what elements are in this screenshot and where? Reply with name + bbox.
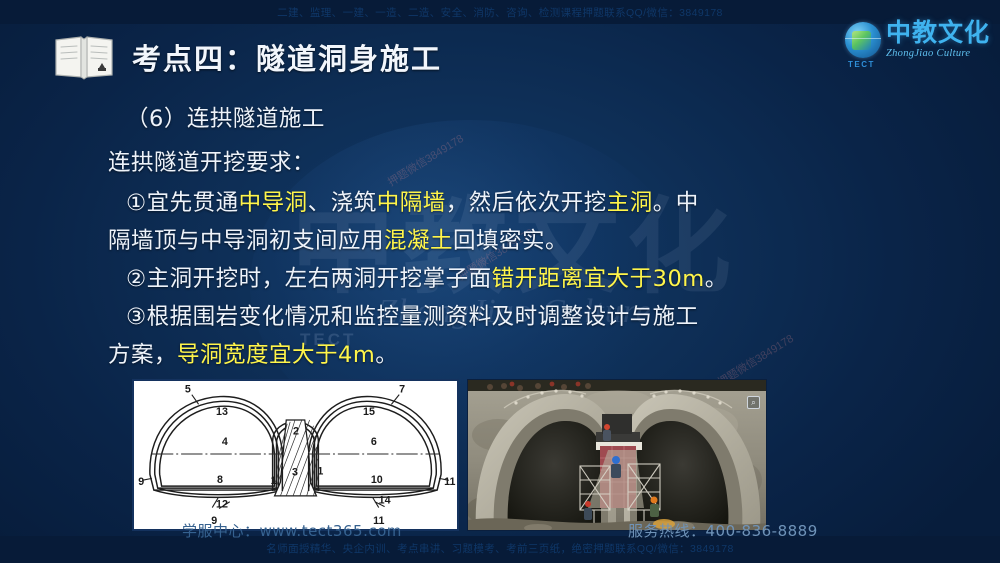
media-row: 5 13 4 8 12 9 9 2 3 1 1 7 15 6 10 14 11 bbox=[132, 379, 767, 531]
diagram-label-2: 2 bbox=[293, 426, 299, 438]
item1-cont-text-1: 隔墙顶与中导洞初支间应用 bbox=[108, 228, 384, 254]
item1-text-4: 。中 bbox=[653, 190, 699, 216]
item1-highlight-1: 中导洞 bbox=[239, 190, 308, 216]
diagram-label-5: 5 bbox=[185, 384, 191, 396]
item3-cont-text-1: 方案， bbox=[108, 342, 177, 368]
body-intro: 连拱隧道开挖要求： bbox=[108, 144, 898, 182]
body-intro-text: 连拱隧道开挖要求： bbox=[108, 150, 315, 176]
diagram-label-13: 13 bbox=[216, 406, 228, 418]
item1-cont-highlight-1: 混凝土 bbox=[384, 228, 453, 254]
item2-text-2: 。 bbox=[705, 266, 728, 292]
item1-text-2: 、浇筑 bbox=[308, 190, 377, 216]
footer-promo-text: 名师面授精华、央企内训、考点串讲、习题模考、考前三页纸，绝密押题联系QQ/微信：… bbox=[0, 541, 1000, 556]
diagram-label-9: 9 bbox=[138, 476, 144, 488]
item3-cont-text-2: 。 bbox=[375, 342, 398, 368]
item1-highlight-2: 中隔墙 bbox=[377, 190, 446, 216]
diagram-label-1a: 1 bbox=[271, 475, 277, 487]
body-item3-line2: 方案，导洞宽度宜大于4m。 bbox=[108, 336, 898, 374]
body-item2-line1: ②主洞开挖时，左右两洞开挖掌子面错开距离宜大于30m。 bbox=[108, 260, 898, 298]
diagram-label-14: 14 bbox=[379, 495, 391, 507]
diagram-label-15: 15 bbox=[363, 406, 375, 418]
page-title: 考点四：隧道洞身施工 bbox=[52, 34, 442, 80]
item2-text-1: ②主洞开挖时，左右两洞开挖掌子面 bbox=[126, 266, 492, 292]
twin-arch-tunnel-portal-construction-photo: ⌕ bbox=[467, 379, 767, 531]
body-item1-line2: 隔墙顶与中导洞初支间应用混凝土回填密实。 bbox=[108, 222, 898, 260]
brand-logo: TECT 中教文化 ZhongJiao Culture bbox=[845, 20, 990, 60]
item1-cont-text-2: 回填密实。 bbox=[453, 228, 568, 254]
magnifier-icon: ⌕ bbox=[747, 396, 760, 409]
body-item1-line1: ①宜先贯通中导洞、浇筑中隔墙，然后依次开挖主洞。中 bbox=[108, 184, 898, 222]
diagram-label-3: 3 bbox=[292, 466, 298, 478]
diagram-label-8: 8 bbox=[217, 474, 223, 486]
logo-en-text: ZhongJiao Culture bbox=[886, 49, 990, 60]
logo-mark-text: TECT bbox=[848, 60, 875, 69]
item1-highlight-3: 主洞 bbox=[607, 190, 653, 216]
body-item3-line1: ③根据围岩变化情况和监控量测资料及时调整设计与施工 bbox=[108, 298, 898, 336]
item1-text-3: ，然后依次开挖 bbox=[446, 190, 607, 216]
content-body: （6）连拱隧道施工 连拱隧道开挖要求： ①宜先贯通中导洞、浇筑中隔墙，然后依次开… bbox=[108, 100, 898, 374]
twin-arch-tunnel-cross-section: 5 13 4 8 12 9 9 2 3 1 1 7 15 6 10 14 11 bbox=[132, 379, 459, 531]
diagram-label-1b: 1 bbox=[317, 465, 323, 477]
item3-cont-highlight-1: 导洞宽度宜大于4m bbox=[177, 342, 375, 368]
footer-website: 学服中心：www.tect365.com bbox=[182, 520, 402, 541]
globe-icon bbox=[845, 22, 881, 58]
top-banner-text: 二建、监理、一建、一造、二造、安全、消防、咨询、检测课程押题联系QQ/微信：38… bbox=[277, 5, 723, 20]
slide-root: 中教文化 ZhongJiao Culture TECT 押题微信3849178 … bbox=[0, 0, 1000, 563]
diagram-label-11: 11 bbox=[444, 476, 455, 488]
item1-text-1: ①宜先贯通 bbox=[126, 190, 239, 216]
diagram-label-6: 6 bbox=[371, 436, 377, 448]
body-heading-text: （6）连拱隧道施工 bbox=[126, 106, 325, 132]
diagram-label-7: 7 bbox=[399, 384, 405, 396]
item3-text-1: ③根据围岩变化情况和监控量测资料及时调整设计与施工 bbox=[126, 304, 699, 330]
diagram-label-12: 12 bbox=[216, 499, 228, 511]
open-book-icon bbox=[52, 34, 116, 80]
logo-cn-text: 中教文化 bbox=[886, 20, 990, 45]
item2-highlight-1: 错开距离宜大于30m bbox=[492, 266, 705, 292]
body-heading: （6）连拱隧道施工 bbox=[108, 100, 898, 138]
diagram-label-4: 4 bbox=[222, 436, 228, 448]
diagram-label-10: 10 bbox=[371, 474, 383, 486]
footer-hotline: 服务热线：400-836-8889 bbox=[628, 520, 818, 541]
page-title-text: 考点四：隧道洞身施工 bbox=[132, 36, 442, 78]
